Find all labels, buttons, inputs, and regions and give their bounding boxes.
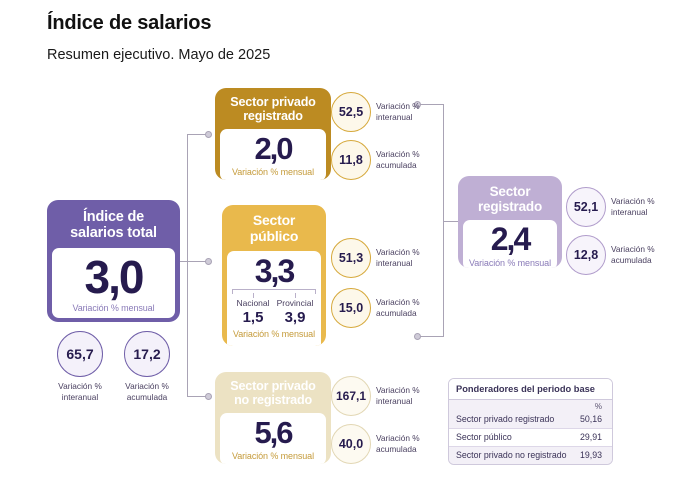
bubble-registered-sector-accumulated[interactable]: 12,8 <box>566 235 606 275</box>
page-subtitle: Resumen ejecutivo. Mayo de 2025 <box>47 47 270 63</box>
card-total-title-line2: salarios total <box>70 225 157 241</box>
card-private-registered-title: Sector privado registrado <box>215 88 331 129</box>
card-public-sector-unit: Variación % mensual <box>233 329 315 339</box>
title-line1: Sector privado <box>230 95 315 109</box>
label-line1: Variación % <box>376 247 420 257</box>
bubble-public-interannual[interactable]: 51,3 <box>331 238 371 278</box>
breakdown-nacional-value: 1,5 <box>232 309 274 326</box>
bubble-private-registered-interannual[interactable]: 52,5 <box>331 92 371 132</box>
bubble-private-unregistered-accumulated-label: Variación % acumulada <box>376 433 438 454</box>
bubble-private-registered-accumulated[interactable]: 11,8 <box>331 140 371 180</box>
title-line2: público <box>250 228 298 244</box>
card-private-unregistered-body: 5,6 Variación % mensual <box>220 413 326 464</box>
bubble-private-registered-interannual-label: Variación % interanual <box>376 101 438 122</box>
bubble-private-unregistered-accumulated[interactable]: 40,0 <box>331 424 371 464</box>
card-registered-sector-body: 2,4 Variación % mensual <box>463 220 557 268</box>
label-line2: interanual <box>62 392 98 402</box>
label-line2: interanual <box>376 112 412 122</box>
weights-row-value: 19,93 <box>580 450 602 460</box>
label-line2: acumulada <box>376 444 417 454</box>
card-registered-sector-value: 2,4 <box>491 223 529 255</box>
label-line2: acumulada <box>376 160 417 170</box>
breakdown-bracket <box>232 289 316 298</box>
card-total-value: 3,0 <box>85 254 143 300</box>
breakdown-provincial-label: Provincial <box>274 298 316 308</box>
bubble-total-interannual-label: Variación % interanual <box>45 381 115 402</box>
card-total-body: 3,0 Variación % mensual <box>52 248 175 318</box>
page-title: Índice de salarios <box>47 12 211 35</box>
title-line1: Sector <box>490 184 531 199</box>
card-private-registered-value: 2,0 <box>254 133 291 164</box>
card-total-title-line1: Índice de <box>83 209 144 225</box>
connector-merge-out <box>443 221 459 222</box>
breakdown-nacional-label: Nacional <box>232 298 274 308</box>
bubble-registered-sector-interannual[interactable]: 52,1 <box>566 187 606 227</box>
title-line1: Sector <box>253 212 295 228</box>
table-row: Sector público 29,91 <box>449 429 612 447</box>
label-line1: Variación % <box>376 101 420 111</box>
label-line1: Variación % <box>611 244 655 254</box>
bubble-private-unregistered-interannual-label: Variación % interanual <box>376 385 438 406</box>
card-total-unit: Variación % mensual <box>73 303 155 313</box>
bubble-total-interannual[interactable]: 65,7 <box>57 331 103 377</box>
bubble-public-interannual-label: Variación % interanual <box>376 247 438 268</box>
breakdown-rows: Nacional 1,5 Provincial 3,9 <box>232 298 316 325</box>
connector-node-private-unregistered <box>205 393 212 400</box>
card-registered-sector-title: Sector registrado <box>458 176 562 220</box>
card-private-unregistered-unit: Variación % mensual <box>232 451 314 461</box>
bubble-registered-sector-interannual-label: Variación % interanual <box>611 196 673 217</box>
label-line1: Variación % <box>376 297 420 307</box>
title-line2: registrado <box>243 109 303 123</box>
card-private-unregistered-value: 5,6 <box>254 417 291 448</box>
label-line1: Variación % <box>58 381 102 391</box>
weights-row-value: 50,16 <box>580 414 602 424</box>
connector-merge-bottom <box>420 336 444 337</box>
label-line1: Variación % <box>125 381 169 391</box>
weights-row-name: Sector público <box>456 432 512 442</box>
card-private-registered[interactable]: Sector privado registrado 2,0 Variación … <box>215 88 331 180</box>
label-line1: Variación % <box>611 196 655 206</box>
label-line2: interanual <box>376 258 412 268</box>
card-total-salary-index[interactable]: Índice de salarios total 3,0 Variación %… <box>47 200 180 322</box>
card-registered-sector[interactable]: Sector registrado 2,4 Variación % mensua… <box>458 176 562 268</box>
weights-table: Ponderadores del periodo base % Sector p… <box>448 378 613 465</box>
connector-total-trunk <box>180 261 208 262</box>
bubble-total-accumulated-label: Variación % acumulada <box>112 381 182 402</box>
label-line2: acumulada <box>376 308 417 318</box>
card-private-unregistered[interactable]: Sector privado no registrado 5,6 Variaci… <box>215 372 331 464</box>
bubble-registered-sector-accumulated-label: Variación % acumulada <box>611 244 673 265</box>
label-line1: Variación % <box>376 385 420 395</box>
weights-table-unit-header: % <box>449 400 612 411</box>
breakdown-provincial-value: 3,9 <box>274 309 316 326</box>
label-line2: interanual <box>376 396 412 406</box>
bubble-private-unregistered-interannual[interactable]: 167,1 <box>331 376 371 416</box>
label-line2: acumulada <box>127 392 168 402</box>
card-total-title: Índice de salarios total <box>47 200 180 248</box>
label-line1: Variación % <box>376 433 420 443</box>
card-private-registered-body: 2,0 Variación % mensual <box>220 129 326 180</box>
title-line1: Sector privado <box>230 379 315 393</box>
card-public-sector-value: 3,3 <box>255 255 293 287</box>
connector-node-merge-bottom <box>414 333 421 340</box>
card-public-sector-title: Sector público <box>222 205 326 251</box>
bubble-public-accumulated[interactable]: 15,0 <box>331 288 371 328</box>
card-private-registered-unit: Variación % mensual <box>232 167 314 177</box>
breakdown-item-nacional: Nacional 1,5 <box>232 298 274 325</box>
card-private-unregistered-title: Sector privado no registrado <box>215 372 331 413</box>
connector-left-spine <box>187 134 188 396</box>
label-line1: Variación % <box>376 149 420 159</box>
title-line2: registrado <box>478 199 542 214</box>
label-line2: acumulada <box>611 255 652 265</box>
table-row: Sector privado registrado 50,16 <box>449 411 612 429</box>
label-line2: interanual <box>611 207 647 217</box>
title-line2: no registrado <box>234 393 312 407</box>
infographic-canvas: Índice de salarios Resumen ejecutivo. Ma… <box>0 0 678 485</box>
card-public-sector[interactable]: Sector público 3,3 Nacional 1,5 Provinci… <box>222 205 326 346</box>
card-public-sector-body: 3,3 Nacional 1,5 Provincial 3,9 <box>227 251 321 346</box>
weights-table-title: Ponderadores del periodo base <box>449 379 612 400</box>
bubble-private-registered-accumulated-label: Variación % acumulada <box>376 149 438 170</box>
bubble-total-accumulated[interactable]: 17,2 <box>124 331 170 377</box>
weights-row-name: Sector privado no registrado <box>456 450 567 460</box>
connector-node-private-registered <box>205 131 212 138</box>
bubble-public-accumulated-label: Variación % acumulada <box>376 297 438 318</box>
card-registered-sector-unit: Variación % mensual <box>469 258 551 268</box>
table-row: Sector privado no registrado 19,93 <box>449 447 612 464</box>
weights-row-value: 29,91 <box>580 432 602 442</box>
public-sector-breakdown: Nacional 1,5 Provincial 3,9 <box>232 289 316 325</box>
breakdown-item-provincial: Provincial 3,9 <box>274 298 316 325</box>
connector-node-public <box>205 258 212 265</box>
weights-row-name: Sector privado registrado <box>456 414 554 424</box>
